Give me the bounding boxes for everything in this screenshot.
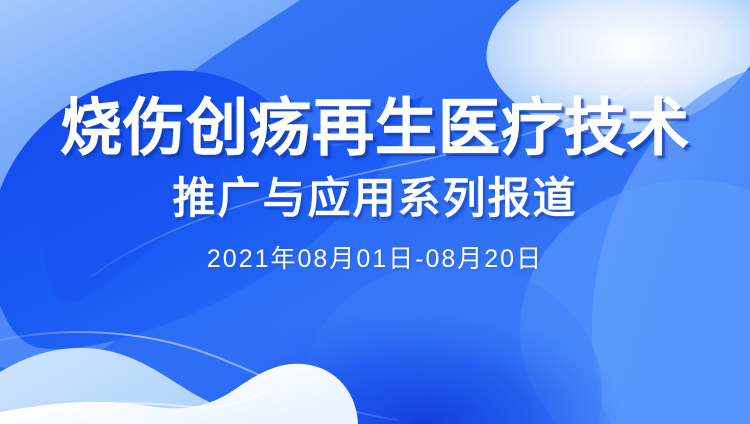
promo-banner: 烧伤创疡再生医疗技术 推广与应用系列报道 2021年08月01日-08月20日 — [0, 0, 750, 424]
page-subtitle: 推广与应用系列报道 — [173, 178, 578, 221]
page-title: 烧伤创疡再生医疗技术 — [60, 98, 690, 160]
date-range-label: 2021年08月01日-08月20日 — [207, 247, 543, 272]
banner-content: 烧伤创疡再生医疗技术 推广与应用系列报道 2021年08月01日-08月20日 — [0, 0, 750, 424]
